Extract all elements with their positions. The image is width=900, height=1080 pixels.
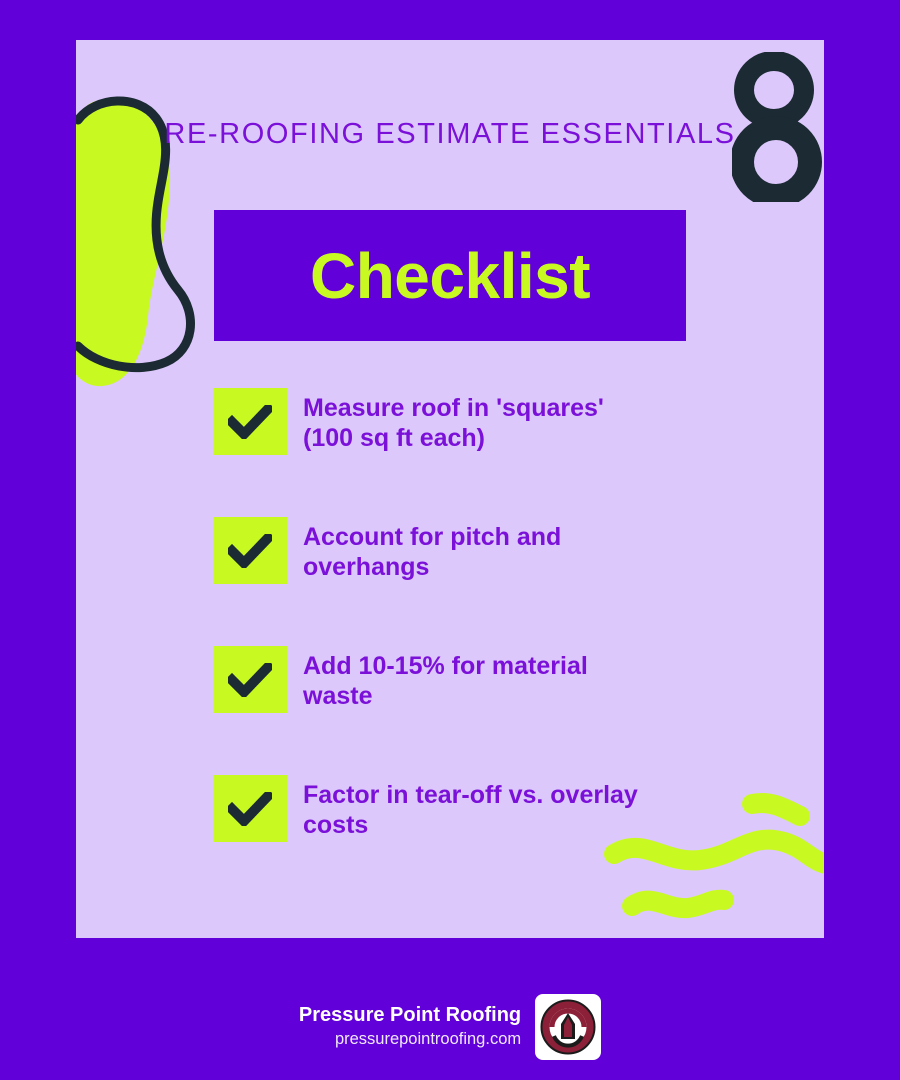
footer: Pressure Point Roofing pressurepointroof… [0, 988, 900, 1066]
checklist-item-label: Measure roof in 'squares' (100 sq ft eac… [303, 388, 604, 453]
checklist-item[interactable]: Account for pitch and overhangs [213, 517, 804, 584]
check-icon [228, 663, 272, 697]
checklist: Measure roof in 'squares' (100 sq ft eac… [213, 388, 804, 842]
checklist-banner: Checklist [214, 210, 686, 341]
footer-text-block: Pressure Point Roofing pressurepointroof… [299, 1003, 521, 1050]
checklist-item-label: Add 10-15% for material waste [303, 646, 588, 711]
checkbox[interactable] [213, 646, 287, 713]
checkbox[interactable] [213, 517, 287, 584]
company-logo-icon [535, 994, 601, 1060]
checklist-item[interactable]: Add 10-15% for material waste [213, 646, 804, 713]
checklist-banner-label: Checklist [310, 244, 590, 308]
page-title: RE-ROOFING ESTIMATE ESSENTIALS [76, 118, 824, 151]
footer-website[interactable]: pressurepointroofing.com [299, 1028, 521, 1050]
check-icon [228, 792, 272, 826]
checklist-item-label: Account for pitch and overhangs [303, 517, 561, 582]
poster-card: RE-ROOFING ESTIMATE ESSENTIALS Checklist… [76, 40, 824, 938]
checklist-item-label: Factor in tear-off vs. overlay costs [303, 775, 638, 840]
checkbox[interactable] [213, 388, 287, 455]
checklist-item[interactable]: Measure roof in 'squares' (100 sq ft eac… [213, 388, 804, 455]
checkbox[interactable] [213, 775, 287, 842]
checklist-item[interactable]: Factor in tear-off vs. overlay costs [213, 775, 804, 842]
check-icon [228, 534, 272, 568]
check-icon [228, 405, 272, 439]
footer-brand-name: Pressure Point Roofing [299, 1003, 521, 1028]
